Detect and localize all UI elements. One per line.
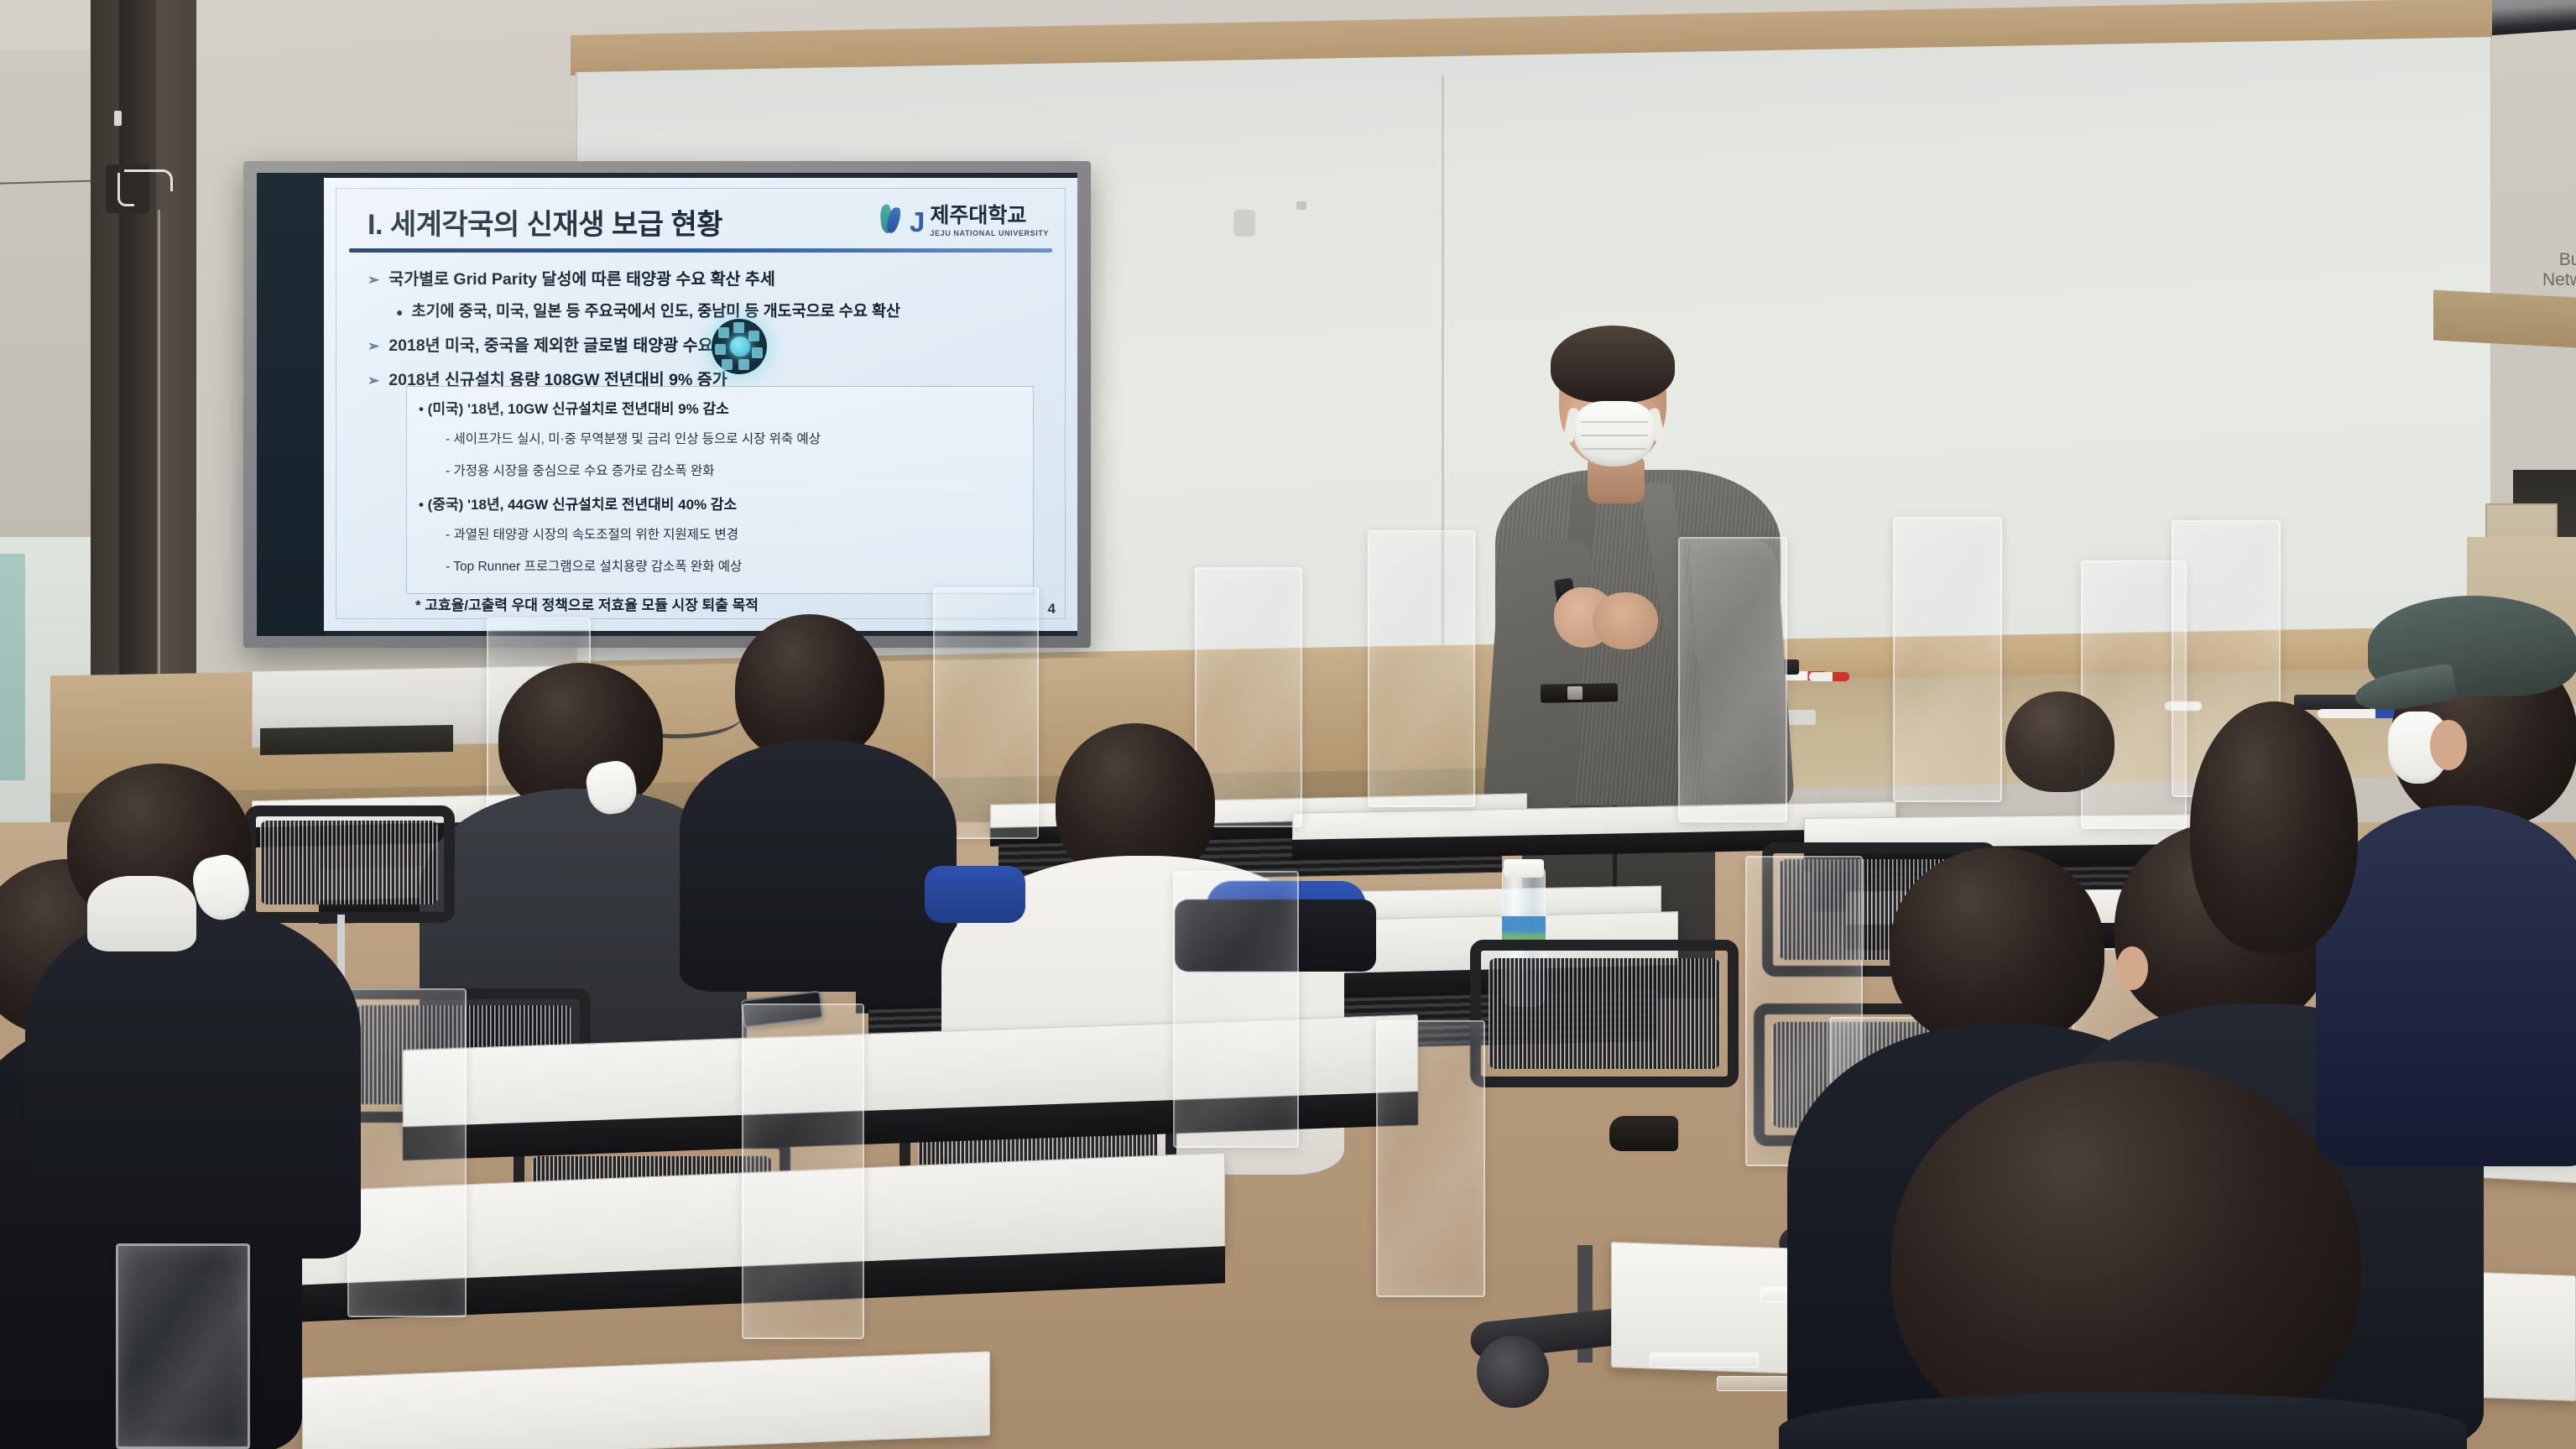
slide-title: I. 세계각국의 신재생 보급 현황 [368,201,722,242]
iot-segment [752,347,763,358]
chevron-bullet-icon: ➢ [368,338,379,355]
iot-segment [715,344,726,355]
bullet-text: 국가별로 Grid Parity 달성에 따른 태양광 수요 확산 추세 [388,265,775,289]
student-torso [25,906,361,1259]
chair-caster [1477,1336,1549,1408]
whiteboard-mark [1296,201,1306,210]
iot-core-icon [730,336,750,357]
podium-front-panel [260,725,453,755]
logo-letter-j: J [910,208,925,236]
flame-icon [879,205,907,238]
detail-footnote: * 고효율/고출력 우대 정책으로 저효율 모듈 시장 퇴출 목적 [415,593,759,614]
column-clip [114,111,122,126]
student-ear [2430,720,2467,770]
detail-subitem: - Top Runner 프로그램으로 설치용량 감소폭 완화 예상 [446,556,742,575]
chevron-bullet-icon: ➢ [368,373,379,389]
bullet-item: ➢ 2018년 미국, 중국을 제외한 글로벌 태양광 수요 호조 [368,331,1044,356]
presenter-hand-right [1593,592,1658,649]
detail-subitem: - 세이프가드 실시, 미·중 무역분쟁 및 금리 인상 등으로 시장 위축 예… [446,429,821,447]
iot-segment [738,359,749,370]
presenter-belt-buckle [1567,686,1583,700]
slide-detail-box: • (미국) '18년, 10GW 신규설치로 전년대비 9% 감소 - 세이프… [406,386,1034,594]
iot-segment [733,322,744,333]
mask-fold [1583,448,1646,450]
iot-hub-icon [712,319,767,374]
iot-segment [722,359,733,370]
screen-letterbox [257,173,326,636]
slide-bullet-list: ➢ 국가별로 Grid Parity 달성에 따른 태양광 수요 확산 추세 ●… [368,265,1044,400]
bullet-text: 초기에 중국, 미국, 일본 등 주요국에서 인도, 중남미 등 개도국으로 수… [411,300,900,321]
acrylic-divider [1678,537,1787,822]
chair-mesh [1489,958,1720,1069]
detail-subitem: - 과열된 태양광 시장의 속도조절의 위한 지원제도 변경 [446,524,738,543]
acrylic-divider [1368,530,1475,807]
presenter-shoe [1609,1116,1678,1151]
bullet-item: ● 초기에 중국, 미국, 일본 등 주요국에서 인도, 중남미 등 개도국으로… [396,300,1044,321]
logo-english-name: JEJU NATIONAL UNIVERSITY [930,229,1049,237]
acrylic-divider [1893,517,2002,802]
student-torso [680,740,957,992]
student-head [2190,701,2358,953]
red-marker[interactable] [1809,672,1849,681]
bullet-text: 2018년 미국, 중국을 제외한 글로벌 태양광 수요 호조 [388,331,748,356]
presenter-face-mask [1574,401,1655,466]
mask-fold [1581,435,1648,436]
whiteboard-magnet [1233,210,1255,237]
bullet-item: ➢ 국가별로 Grid Parity 달성에 따른 태양광 수요 확산 추세 [368,265,1044,289]
detail-heading: • (중국) '18년, 44GW 신규설치로 전년대비 40% 감소 [419,493,737,513]
chair-mesh [260,821,438,904]
column-inner-face [119,0,156,752]
detail-heading: • (미국) '18년, 10GW 신규설치로 전년대비 9% 감소 [419,397,729,418]
blue-cushion [925,866,1025,923]
presentation-slide: I. 세계각국의 신재생 보급 현황 J 제주대학교 JEJU NATIONAL… [324,178,1077,631]
acrylic-divider [742,1003,864,1339]
student-head [1891,1061,2361,1449]
student-head [2005,691,2115,792]
acrylic-divider-front [116,1243,250,1449]
acrylic-divider [1173,871,1299,1148]
chevron-bullet-icon: ➢ [368,272,379,289]
iot-segment [748,331,759,341]
slide-title-rule [349,248,1052,253]
mask-fold [1581,421,1648,423]
business-networking-wall-sign: BusinessNetworking [2505,250,2576,290]
logo-korean-name: 제주대학교 [930,206,1049,227]
iot-segment [718,327,729,338]
presenter-hair [1551,326,1675,403]
student-collar [87,876,196,951]
presenter-arm-left [1483,536,1593,819]
dot-bullet-icon: ● [396,305,403,319]
acrylic-divider-foot [1650,1353,1759,1368]
classroom-photo: 소화기 BusinessNetworking I. 세계각국의 신재생 보급 현… [0,0,2576,1449]
slide-page-number: 4 [1048,601,1056,618]
acrylic-divider [347,988,467,1317]
blue-marker[interactable] [2318,709,2398,718]
acrylic-divider-front [1376,1020,1485,1297]
right-wall-wood-trim [2433,290,2576,348]
detail-subitem: - 가정용 시장을 중심으로 수요 증가로 감소폭 완화 [446,461,715,479]
left-wall-teal-strip [0,554,25,780]
university-logo: J 제주대학교 JEJU NATIONAL UNIVERSITY [879,205,1049,238]
student-head [1890,847,2104,1047]
column-cable-secondary [117,173,134,206]
student-ear [2116,946,2148,990]
water-bottle-cap[interactable] [1504,859,1544,878]
